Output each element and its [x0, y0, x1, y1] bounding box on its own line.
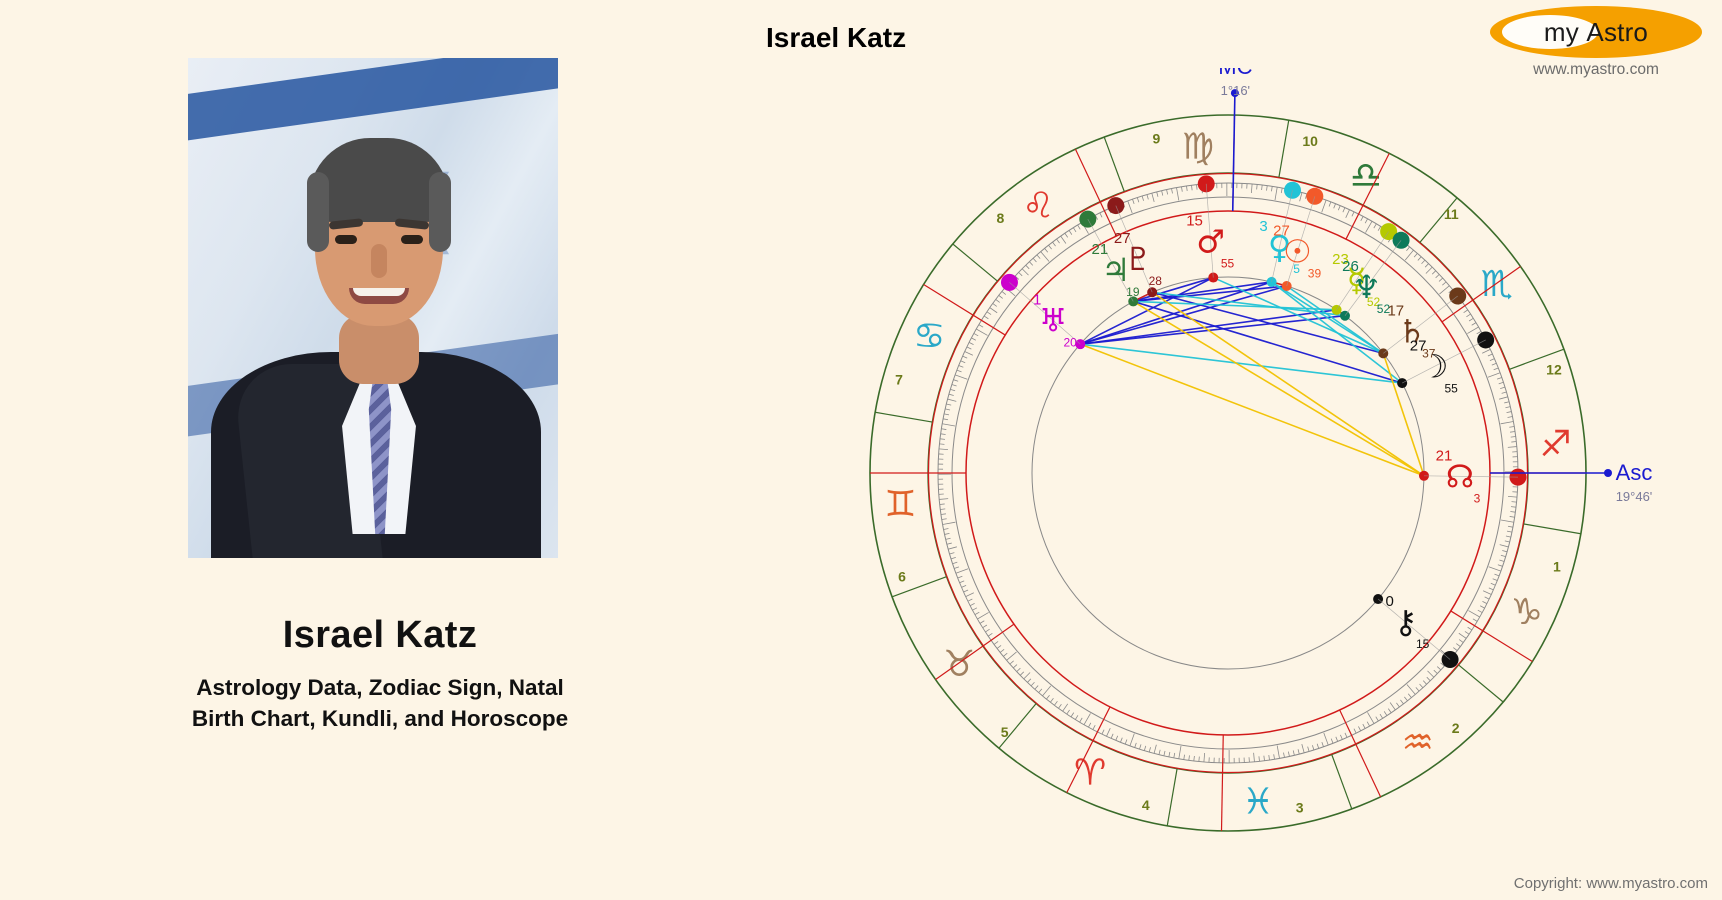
- degree-tick: [1480, 606, 1484, 608]
- house-number-12[interactable]: 12: [1546, 362, 1562, 378]
- degree-tick: [1176, 188, 1178, 201]
- degree-tick: [1024, 672, 1030, 678]
- degree-tick: [1264, 756, 1265, 761]
- degree-tick: [1354, 729, 1356, 733]
- degree-tick: [1483, 591, 1491, 595]
- degree-tick: [1106, 728, 1110, 736]
- house-number-4[interactable]: 4: [1142, 797, 1150, 813]
- degree-tick: [958, 576, 963, 578]
- degree-tick: [1152, 193, 1154, 202]
- degree-tick: [1427, 677, 1430, 681]
- degree-tick: [1493, 579, 1498, 581]
- degree-tick: [948, 547, 957, 549]
- house-number-11[interactable]: 11: [1444, 206, 1459, 222]
- degree-tick: [1042, 686, 1050, 696]
- degree-tick: [1002, 291, 1006, 294]
- degree-tick: [964, 590, 969, 592]
- degree-tick: [945, 409, 950, 410]
- degree-tick: [1084, 713, 1090, 724]
- degree-tick: [1057, 239, 1060, 243]
- degree-tick: [1507, 412, 1512, 413]
- sign-divider: [1279, 120, 1289, 177]
- degree-tick: [1512, 502, 1517, 503]
- degree-tick: [1013, 665, 1017, 668]
- degree-tick: [1420, 684, 1423, 688]
- degree-tick: [1414, 253, 1417, 257]
- degree-tick: [1508, 496, 1517, 497]
- degree-tick: [1031, 682, 1034, 686]
- degree-tick: [1284, 753, 1285, 758]
- planet-glyph-uranus[interactable]: ♅: [1039, 301, 1068, 339]
- degree-tick: [1037, 255, 1040, 259]
- logo-text: my Astro: [1490, 6, 1702, 58]
- zodiac-sign-leo[interactable]: ♌: [1022, 185, 1054, 226]
- aspect-line-minor: [1152, 292, 1424, 476]
- degree-tick: [1338, 206, 1340, 211]
- degree-tick: [1437, 667, 1441, 670]
- degree-tick: [975, 612, 979, 614]
- degree-tick: [1358, 726, 1360, 730]
- zodiac-sign-gemini[interactable]: ♊: [884, 484, 916, 525]
- degree-tick: [1423, 681, 1426, 685]
- degree-tick: [941, 429, 946, 430]
- degree-tick: [1502, 550, 1507, 551]
- degree-tick: [1149, 747, 1150, 752]
- degree-tick: [1137, 198, 1139, 203]
- degree-tick: [1406, 247, 1409, 251]
- degree-tick: [1274, 754, 1275, 759]
- degree-tick: [1405, 250, 1413, 260]
- degree-tick: [939, 449, 948, 450]
- degree-tick: [1251, 184, 1252, 193]
- degree-tick: [1271, 186, 1272, 191]
- degree-tick: [1504, 402, 1509, 403]
- degree-tick: [972, 608, 976, 610]
- degree-tick: [1499, 397, 1508, 399]
- degree-tick: [1343, 208, 1345, 213]
- degree-tick: [940, 509, 945, 510]
- degree-tick: [984, 316, 988, 319]
- degree-tick: [1067, 710, 1070, 714]
- sign-divider: [1167, 769, 1177, 826]
- degree-tick: [1058, 704, 1061, 708]
- degree-tick: [1007, 652, 1017, 660]
- degree-tick: [1259, 756, 1260, 761]
- degree-tick: [950, 553, 955, 554]
- degree-tick: [1075, 715, 1078, 719]
- portrait-photo: [188, 58, 558, 558]
- degree-tick: [1159, 750, 1160, 755]
- degree-tick: [1102, 730, 1104, 735]
- hair-left: [307, 172, 329, 252]
- degree-tick: [1063, 704, 1068, 711]
- degree-tick: [987, 312, 991, 315]
- degree-tick: [1432, 271, 1436, 274]
- angle-label-asc[interactable]: Asc: [1616, 460, 1653, 485]
- degree-tick: [1045, 248, 1048, 252]
- degree-tick: [1010, 661, 1014, 664]
- logo-text-astro: Astro: [1586, 17, 1648, 48]
- degree-tick: [1388, 709, 1391, 713]
- degree-tick: [1169, 752, 1170, 757]
- degree-tick: [1277, 746, 1279, 759]
- degree-tick: [1436, 274, 1440, 277]
- degree-tick: [979, 325, 983, 328]
- planet-aspect-point-saturn: [1378, 348, 1388, 358]
- degree-tick: [1510, 431, 1515, 432]
- degree-tick: [940, 504, 945, 505]
- planet-glyph-chiron[interactable]: ⚷: [1394, 603, 1417, 641]
- angle-degree-mc: 1°16': [1221, 83, 1250, 98]
- degree-tick: [1494, 574, 1499, 576]
- degree-tick: [1499, 382, 1504, 384]
- degree-tick: [988, 633, 992, 636]
- degree-tick: [1073, 228, 1076, 232]
- degree-tick: [1439, 278, 1443, 281]
- degree-tick: [1418, 257, 1421, 261]
- degree-tick: [996, 299, 1000, 302]
- degree-tick: [942, 519, 947, 520]
- planet-degree-neptune: 26: [1342, 258, 1359, 275]
- degree-tick: [1507, 531, 1512, 532]
- degree-tick: [1459, 640, 1463, 643]
- degree-tick: [951, 557, 956, 558]
- degree-tick: [1184, 755, 1185, 760]
- chart-title: Israel Katz: [766, 22, 1126, 54]
- degree-tick: [1511, 437, 1516, 438]
- planet-marker-chiron[interactable]: [1442, 651, 1459, 668]
- degree-tick: [963, 356, 968, 358]
- aspect-line-minor: [1080, 344, 1424, 476]
- eye-right: [401, 235, 423, 244]
- planet-degree-venus: 3: [1259, 218, 1267, 235]
- degree-tick: [1345, 733, 1347, 738]
- degree-tick: [1384, 711, 1387, 715]
- angle-degree-asc: 19°46': [1616, 489, 1653, 504]
- sign-divider: [953, 244, 998, 281]
- degree-tick: [1157, 192, 1158, 197]
- degree-tick: [1179, 746, 1181, 759]
- degree-tick: [1093, 725, 1095, 729]
- degree-tick: [970, 603, 974, 605]
- degree-tick: [1049, 245, 1052, 249]
- degree-tick: [997, 645, 1001, 648]
- degree-tick: [949, 394, 954, 395]
- zodiac-sign-capricorn[interactable]: ♑: [1511, 592, 1543, 633]
- degree-tick: [980, 621, 984, 624]
- degree-tick: [1488, 354, 1493, 356]
- aspect-line-minor: [1133, 301, 1424, 475]
- degree-tick: [940, 439, 945, 440]
- degree-tick: [961, 361, 966, 363]
- degree-tick: [1065, 233, 1068, 237]
- house-number-3[interactable]: 3: [1296, 799, 1304, 815]
- degree-tick: [1482, 349, 1490, 353]
- degree-tick: [1061, 236, 1066, 243]
- planet-degree-chiron: 0: [1385, 593, 1393, 610]
- aspect-line-opposition: [1080, 316, 1345, 344]
- degree-tick: [1478, 610, 1482, 612]
- sign-divider: [1459, 665, 1504, 702]
- degree-tick: [994, 641, 998, 644]
- degree-tick: [1262, 185, 1263, 190]
- degree-tick: [1494, 368, 1499, 370]
- degree-tick: [1322, 200, 1326, 212]
- degree-tick: [1506, 536, 1511, 537]
- degree-tick: [1352, 212, 1354, 217]
- degree-tick: [1426, 267, 1432, 273]
- degree-tick: [974, 333, 978, 335]
- planet-degree-northnode: 21: [1436, 447, 1453, 464]
- house-number-10[interactable]: 10: [1302, 133, 1318, 149]
- planet-minute-jupiter: 19: [1126, 285, 1140, 299]
- planet-minute-pluto: 28: [1149, 274, 1163, 288]
- degree-tick: [1501, 520, 1514, 522]
- degree-tick: [999, 295, 1003, 298]
- zodiac-sign-pisces[interactable]: ♓: [1242, 782, 1274, 823]
- degree-tick: [1269, 755, 1270, 760]
- degree-tick: [943, 419, 948, 420]
- angle-label-mc[interactable]: MC: [1218, 68, 1252, 79]
- degree-tick: [1468, 611, 1479, 617]
- degree-tick: [1302, 744, 1304, 753]
- degree-tick: [1367, 712, 1374, 723]
- aspect-line-square: [1080, 344, 1402, 383]
- planet-marker-pluto[interactable]: [1107, 197, 1124, 214]
- degree-tick: [1132, 199, 1134, 204]
- degree-tick: [1000, 649, 1004, 652]
- degree-tick: [1374, 224, 1377, 228]
- degree-tick: [1162, 191, 1163, 196]
- zodiac-sign-sagittarius[interactable]: ♐: [1539, 424, 1571, 465]
- degree-tick: [1139, 744, 1141, 749]
- degree-tick: [1501, 555, 1506, 556]
- degree-tick: [1453, 648, 1457, 651]
- house-number-2[interactable]: 2: [1452, 720, 1460, 736]
- aspect-line-minor: [1383, 353, 1424, 475]
- degree-tick: [1197, 185, 1198, 190]
- degree-tick: [967, 347, 972, 349]
- degree-tick: [1298, 749, 1299, 754]
- degree-tick: [953, 562, 958, 564]
- degree-tick: [1308, 747, 1309, 752]
- degree-tick: [1046, 695, 1049, 699]
- person-name: Israel Katz: [0, 614, 760, 657]
- degree-tick: [948, 399, 957, 401]
- left-panel: Israel Katz Astrology Data, Zodiac Sign,…: [0, 0, 760, 900]
- degree-tick: [1439, 286, 1449, 294]
- degree-tick: [1366, 221, 1372, 232]
- degree-tick: [1499, 560, 1504, 562]
- degree-tick: [1489, 567, 1501, 571]
- degree-tick: [1468, 627, 1472, 630]
- degree-tick: [1317, 744, 1319, 749]
- nose: [371, 244, 387, 278]
- degree-tick: [962, 585, 967, 587]
- degree-tick: [953, 380, 958, 382]
- teeth: [353, 288, 405, 296]
- degree-tick: [1331, 739, 1333, 744]
- degree-tick: [1367, 722, 1369, 726]
- degree-tick: [939, 499, 948, 500]
- planet-degree-jupiter: 21: [1091, 241, 1108, 258]
- aspect-line-square: [1272, 282, 1403, 383]
- degree-tick: [1181, 187, 1182, 192]
- degree-tick: [1130, 734, 1134, 746]
- degree-tick: [1434, 670, 1438, 673]
- degree-tick: [1467, 327, 1478, 334]
- degree-tick: [1500, 545, 1509, 547]
- house-number-6[interactable]: 6: [898, 568, 906, 584]
- degree-tick: [1254, 753, 1255, 762]
- degree-tick: [1194, 756, 1195, 761]
- planet-marker-saturn[interactable]: [1449, 288, 1466, 305]
- planet-degree-sun: 27: [1273, 223, 1290, 240]
- degree-tick: [1054, 701, 1057, 705]
- house-number-7[interactable]: 7: [895, 371, 903, 387]
- degree-tick: [1199, 757, 1200, 762]
- degree-tick: [1154, 745, 1156, 754]
- degree-tick: [971, 338, 975, 340]
- degree-tick: [957, 370, 962, 372]
- degree-tick: [1017, 668, 1021, 671]
- zodiac-sign-aquarius[interactable]: ♒: [1402, 723, 1434, 764]
- degree-tick: [941, 434, 946, 435]
- degree-tick: [941, 514, 946, 515]
- degree-tick: [1186, 186, 1187, 191]
- zodiac-sign-virgo[interactable]: ♍: [1182, 126, 1214, 167]
- zodiac-sign-aries[interactable]: ♈: [1074, 753, 1106, 794]
- degree-tick: [959, 365, 964, 367]
- degree-tick: [1020, 672, 1024, 675]
- degree-tick: [1416, 687, 1419, 691]
- degree-tick: [1324, 733, 1328, 745]
- degree-tick: [1361, 216, 1363, 220]
- degree-tick: [1281, 188, 1282, 193]
- angle-point-asc: [1604, 469, 1612, 477]
- degree-tick: [1442, 282, 1446, 285]
- degree-tick: [1407, 684, 1415, 694]
- degree-tick: [1510, 512, 1515, 513]
- degree-tick: [1511, 442, 1516, 443]
- zodiac-sign-scorpio[interactable]: ♏: [1481, 264, 1513, 305]
- degree-tick: [1080, 718, 1083, 722]
- planet-degree-mars: 15: [1186, 213, 1203, 230]
- house-number-8[interactable]: 8: [996, 210, 1004, 226]
- degree-tick: [1029, 262, 1032, 266]
- degree-tick: [1288, 752, 1289, 757]
- house-number-5[interactable]: 5: [1001, 724, 1009, 740]
- planet-aspect-point-sun: [1282, 281, 1292, 291]
- degree-tick: [1492, 363, 1497, 365]
- degree-tick: [1078, 225, 1081, 229]
- degree-tick: [1039, 689, 1042, 693]
- degree-tick: [1502, 392, 1507, 393]
- planet-marker-venus[interactable]: [1284, 182, 1301, 199]
- degree-tick: [1380, 714, 1383, 718]
- page-root: Israel Katz Astrology Data, Zodiac Sign,…: [0, 0, 1722, 900]
- degree-tick: [1508, 417, 1513, 418]
- degree-tick: [1489, 588, 1494, 590]
- degree-tick: [1456, 644, 1460, 647]
- wheel-outer-circle: [870, 115, 1586, 831]
- degree-tick: [943, 522, 956, 524]
- degree-tick: [1485, 597, 1490, 599]
- degree-tick: [990, 308, 997, 313]
- degree-tick: [1135, 743, 1137, 748]
- degree-tick: [1164, 751, 1165, 756]
- degree-tick: [1334, 204, 1336, 209]
- planet-degree-moon: 27: [1410, 338, 1427, 355]
- degree-tick: [966, 593, 974, 597]
- degree-tick: [1144, 746, 1145, 751]
- degree-tick: [1508, 526, 1513, 527]
- logo-text-my: my: [1544, 17, 1579, 48]
- sign-divider: [1332, 754, 1352, 808]
- degree-tick: [1425, 264, 1428, 268]
- zodiac-sign-taurus[interactable]: ♉: [943, 644, 975, 685]
- eye-left: [335, 235, 357, 244]
- degree-tick: [1490, 359, 1495, 361]
- sign-divider: [1524, 524, 1581, 534]
- degree-tick: [1404, 697, 1407, 701]
- degree-tick: [1293, 750, 1294, 755]
- degree-tick: [1142, 196, 1143, 201]
- wheel-house-circle: [966, 211, 1490, 735]
- degree-tick: [944, 414, 949, 415]
- degree-tick: [1505, 407, 1510, 408]
- hair-right: [429, 172, 451, 252]
- degree-tick: [1400, 700, 1403, 704]
- degree-tick: [1346, 210, 1350, 218]
- house-number-9[interactable]: 9: [1152, 131, 1160, 147]
- degree-tick: [1469, 318, 1473, 321]
- degree-tick: [1482, 601, 1486, 603]
- degree-tick: [1147, 195, 1148, 200]
- house-number-1[interactable]: 1: [1553, 559, 1561, 575]
- degree-tick: [1267, 186, 1268, 191]
- degree-tick: [1027, 679, 1030, 683]
- degree-tick: [977, 612, 988, 619]
- degree-tick: [1396, 703, 1399, 707]
- planet-degree-pluto: 27: [1114, 230, 1131, 247]
- degree-tick: [1473, 619, 1477, 622]
- degree-tick: [1111, 734, 1113, 739]
- wheel-aspect-circle: [1032, 277, 1424, 669]
- natal-chart-wheel[interactable]: ♈♉♊♋♌♍♎♏♐♑♒♓123456789101112♀35☉2739♂1555…: [828, 68, 1688, 878]
- degree-tick: [1041, 252, 1049, 262]
- degree-tick: [1003, 653, 1007, 656]
- degree-tick: [1427, 671, 1433, 677]
- sign-divider: [1104, 137, 1124, 191]
- degree-tick: [1408, 694, 1411, 698]
- degree-tick: [1192, 185, 1193, 190]
- degree-tick: [1340, 735, 1342, 740]
- degree-tick: [954, 567, 959, 569]
- degree-tick: [1275, 187, 1277, 200]
- degree-tick: [950, 389, 955, 390]
- degree-tick: [947, 543, 952, 544]
- degree-tick: [956, 569, 968, 573]
- degree-tick: [955, 375, 967, 379]
- zodiac-sign-libra[interactable]: ♎: [1350, 155, 1382, 196]
- degree-tick: [1257, 184, 1258, 189]
- degree-tick: [1376, 717, 1379, 721]
- zodiac-sign-cancer[interactable]: ♋: [913, 316, 945, 357]
- degree-tick: [1116, 736, 1118, 741]
- degree-tick: [1465, 631, 1469, 634]
- degree-tick: [1511, 507, 1516, 508]
